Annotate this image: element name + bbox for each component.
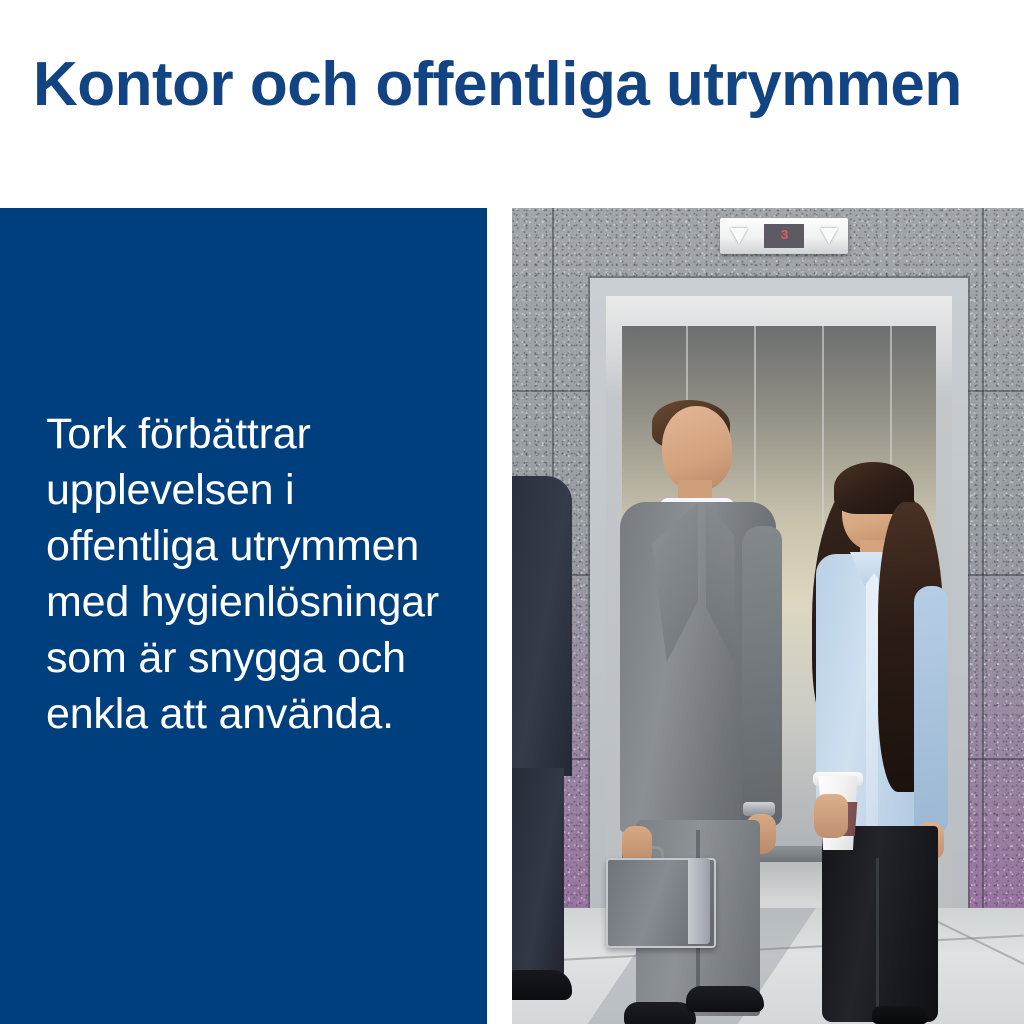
woman-hand-holding-cup bbox=[814, 794, 848, 838]
blue-text-panel: Tork förbättrar upplevelsen i offentliga… bbox=[0, 208, 487, 1024]
woman-trousers bbox=[822, 826, 938, 1022]
wall-seam bbox=[982, 208, 984, 1024]
person-left-partial bbox=[512, 476, 578, 1024]
left-person-torso bbox=[512, 476, 572, 776]
man-shoe-right bbox=[686, 986, 764, 1012]
person-woman-blue-shirt bbox=[802, 458, 954, 1024]
man-arm bbox=[742, 526, 782, 826]
poster-root: Kontor och offentliga utrymmen Tork förb… bbox=[0, 0, 1024, 1024]
left-person-legs bbox=[512, 768, 564, 978]
left-person-shoe bbox=[512, 970, 572, 1000]
arrow-up-icon bbox=[730, 228, 748, 244]
photo-panel: 3 bbox=[512, 208, 1024, 1024]
man-head bbox=[662, 406, 732, 490]
body-text: Tork förbättrar upplevelsen i offentliga… bbox=[46, 406, 466, 742]
person-man-gray-suit bbox=[604, 406, 784, 1024]
woman-trouser-seam bbox=[876, 858, 879, 1018]
woman-shoe bbox=[872, 1006, 928, 1024]
floor-number-display: 3 bbox=[764, 224, 804, 248]
briefcase-edge bbox=[688, 858, 710, 944]
page-title: Kontor och offentliga utrymmen bbox=[33, 52, 1013, 117]
arrow-down-icon bbox=[820, 228, 838, 244]
woman-arm bbox=[914, 586, 948, 832]
elevator-indicator-panel: 3 bbox=[720, 218, 848, 254]
woman-shirt-placket bbox=[866, 562, 878, 828]
